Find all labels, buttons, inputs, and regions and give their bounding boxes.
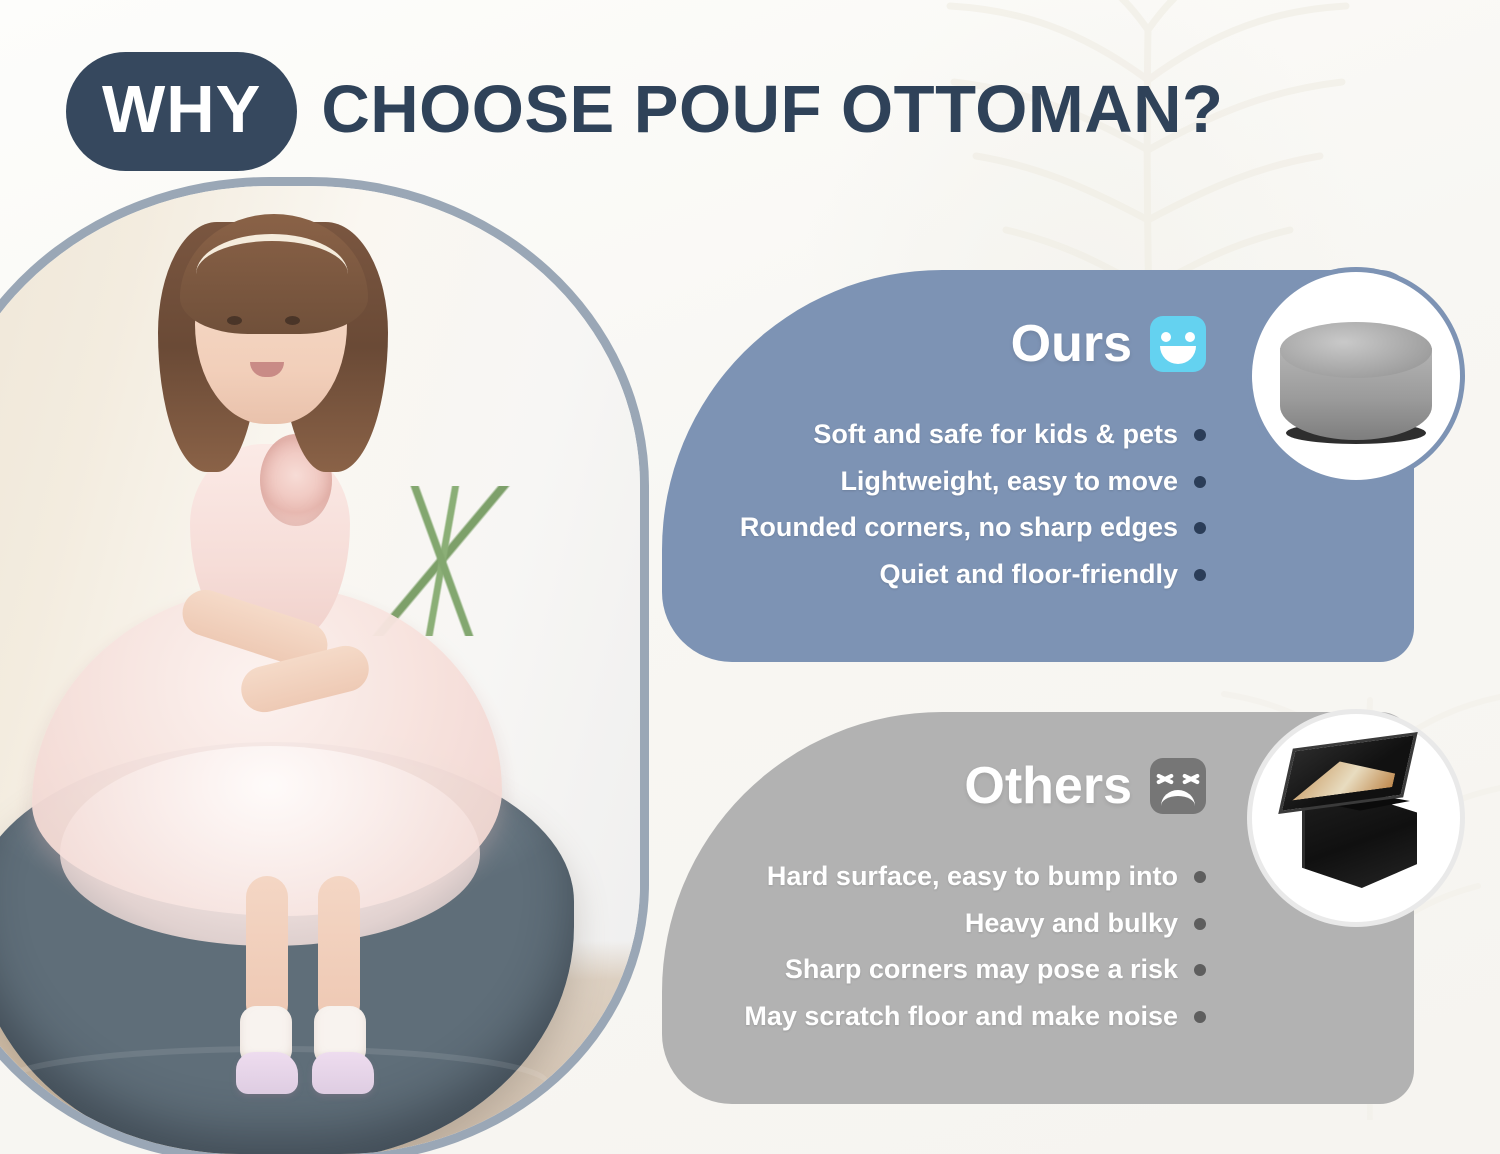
bullet-dot-icon xyxy=(1194,476,1206,488)
houseplant-decor xyxy=(370,486,520,636)
lifestyle-photo xyxy=(0,186,640,1154)
benefit-label: Rounded corners, no sharp edges xyxy=(740,513,1178,543)
list-item: Heavy and bulky xyxy=(666,909,1206,939)
smiley-mouth-icon xyxy=(1160,346,1196,364)
x-eye-right-icon xyxy=(1182,772,1200,786)
photo-scene xyxy=(0,186,640,1154)
shoe-left xyxy=(236,1052,298,1094)
x-eye-left-icon xyxy=(1156,772,1174,786)
panel-title-others: Others xyxy=(964,760,1132,812)
list-item: Rounded corners, no sharp edges xyxy=(666,513,1206,543)
bullet-dot-icon xyxy=(1194,429,1206,441)
child-eye-left xyxy=(227,316,242,325)
child-eye-right xyxy=(285,316,300,325)
list-item: Quiet and floor-friendly xyxy=(666,560,1206,590)
bullet-dot-icon xyxy=(1194,918,1206,930)
smiley-eye-left-icon xyxy=(1161,332,1171,342)
shoe-right xyxy=(312,1052,374,1094)
panel-title-ours: Ours xyxy=(1011,318,1132,370)
poster-canvas: WHY CHOOSE POUF OTTOMAN? xyxy=(0,0,1500,1154)
benefit-label: Quiet and floor-friendly xyxy=(879,560,1178,590)
panel-header-others: Others xyxy=(964,758,1206,814)
list-item: May scratch floor and make noise xyxy=(666,1002,1206,1032)
drawback-label: May scratch floor and make noise xyxy=(744,1002,1178,1032)
bullet-dot-icon xyxy=(1194,871,1206,883)
child-leg-right xyxy=(318,876,360,1026)
why-badge: WHY xyxy=(66,52,297,171)
round-pouf-ottoman-thumbnail xyxy=(1272,292,1440,460)
benefit-label: Lightweight, easy to move xyxy=(840,467,1178,497)
drawback-list-others: Hard surface, easy to bump into Heavy an… xyxy=(666,862,1206,1049)
page-title: WHY CHOOSE POUF OTTOMAN? xyxy=(66,52,1223,171)
drawback-label: Sharp corners may pose a risk xyxy=(785,955,1178,985)
child-leg-left xyxy=(246,876,288,1026)
photo-mask xyxy=(0,186,640,1154)
bullet-dot-icon xyxy=(1194,522,1206,534)
smiley-eye-right-icon xyxy=(1185,332,1195,342)
smiling-face-icon xyxy=(1150,316,1206,372)
bullet-dot-icon xyxy=(1194,964,1206,976)
list-item: Lightweight, easy to move xyxy=(666,467,1206,497)
pouf-thumb-top xyxy=(1280,322,1432,378)
square-hard-box-ottoman-thumbnail xyxy=(1272,734,1440,902)
list-item: Hard surface, easy to bump into xyxy=(666,862,1206,892)
drawback-label: Hard surface, easy to bump into xyxy=(767,862,1178,892)
bullet-dot-icon xyxy=(1194,1011,1206,1023)
panel-header-ours: Ours xyxy=(1011,316,1206,372)
product-thumbnail-ours xyxy=(1252,272,1460,480)
product-thumbnail-others xyxy=(1252,714,1460,922)
drawback-label: Heavy and bulky xyxy=(965,909,1178,939)
title-text: CHOOSE POUF OTTOMAN? xyxy=(321,76,1223,147)
list-item: Sharp corners may pose a risk xyxy=(666,955,1206,985)
benefit-list-ours: Soft and safe for kids & pets Lightweigh… xyxy=(666,420,1206,607)
frown-mouth-icon xyxy=(1161,790,1195,806)
frowning-squinting-face-icon xyxy=(1150,758,1206,814)
benefit-label: Soft and safe for kids & pets xyxy=(813,420,1178,450)
bullet-dot-icon xyxy=(1194,569,1206,581)
list-item: Soft and safe for kids & pets xyxy=(666,420,1206,450)
